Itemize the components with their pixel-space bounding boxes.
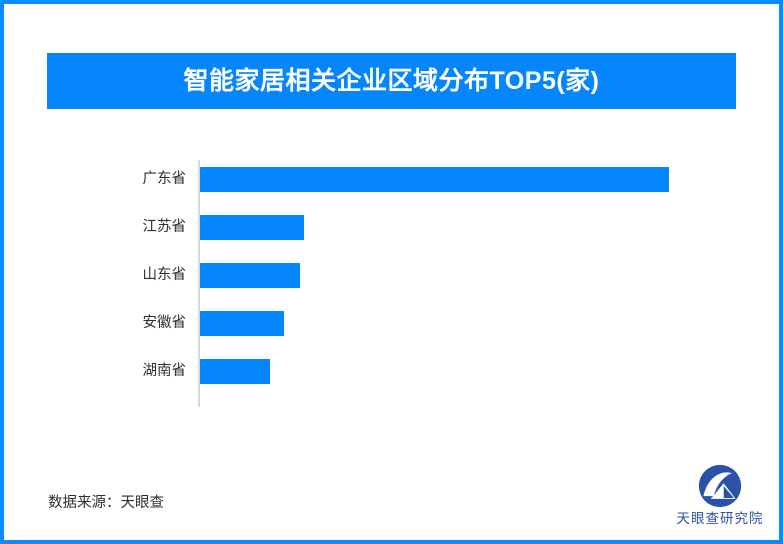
bar-row: 江苏省	[4, 204, 783, 252]
bar-segment	[200, 167, 669, 192]
infographic-frame: 智能家居相关企业区域分布TOP5(家) 广东省江苏省山东省安徽省湖南省 数据来源…	[0, 0, 783, 544]
chart-title-banner: 智能家居相关企业区域分布TOP5(家)	[47, 53, 736, 109]
bar-segment	[200, 263, 300, 288]
bar-row: 湖南省	[4, 348, 783, 396]
bar-category-label: 湖南省	[64, 358, 186, 384]
bar-series-container: 广东省江苏省山东省安徽省湖南省	[4, 156, 783, 411]
bar-segment	[200, 215, 304, 240]
bar-category-label: 山东省	[64, 262, 186, 288]
page-title: 智能家居相关企业区域分布TOP5(家)	[184, 69, 600, 94]
bar-row: 安徽省	[4, 300, 783, 348]
bar-row: 广东省	[4, 156, 783, 204]
bar-row: 山东省	[4, 252, 783, 300]
tianyancha-eye-logo-icon	[697, 463, 743, 509]
bar-category-label: 江苏省	[64, 214, 186, 240]
bar-category-label: 广东省	[64, 166, 186, 192]
brand-logo: 天眼查研究院	[664, 463, 776, 533]
bar-category-label: 安徽省	[64, 310, 186, 336]
bar-segment	[200, 311, 284, 336]
bar-chart: 广东省江苏省山东省安徽省湖南省	[4, 156, 783, 411]
bar-segment	[200, 359, 270, 384]
data-source-note: 数据来源：天眼查	[48, 491, 164, 512]
brand-logo-text: 天眼查研究院	[677, 511, 764, 527]
